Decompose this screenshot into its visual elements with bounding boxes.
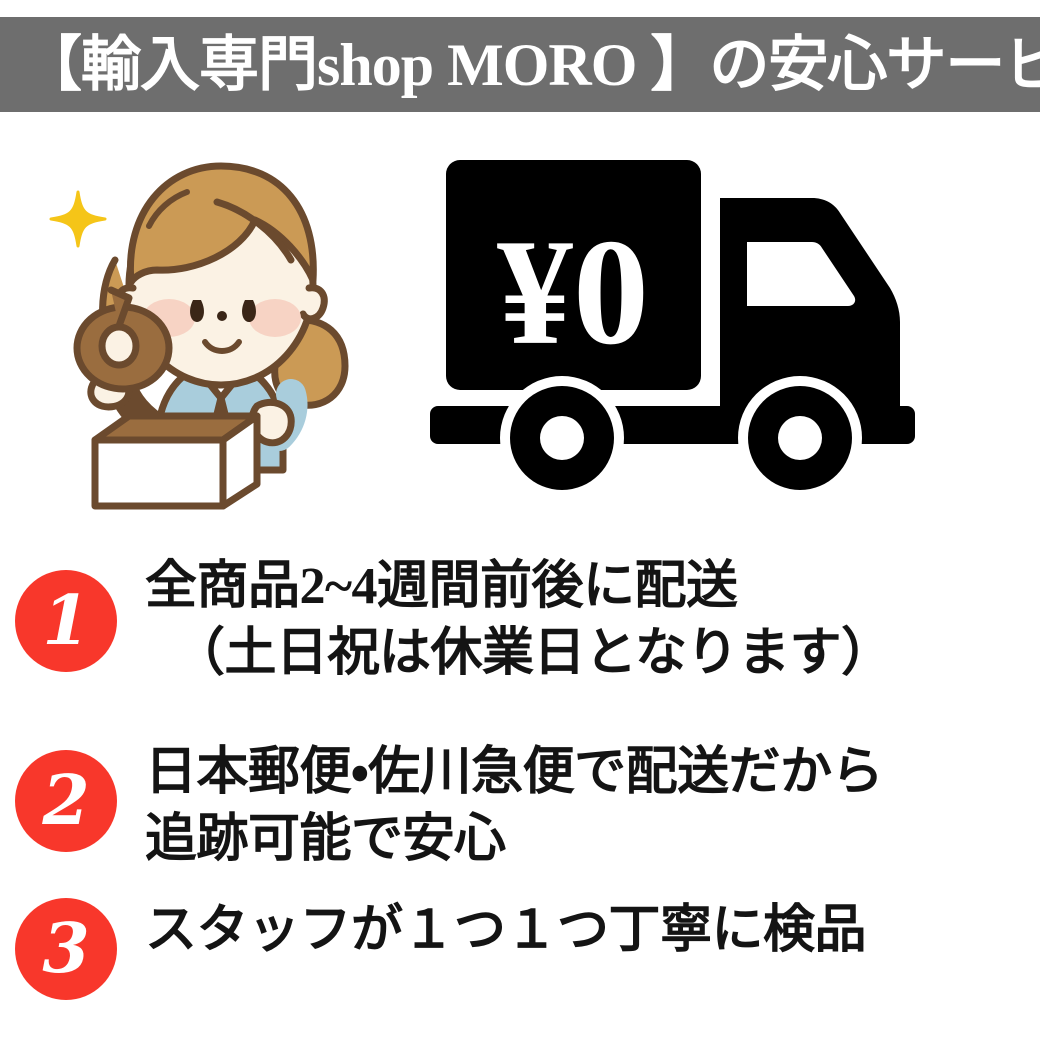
point-line: スタッフが１つ１つ丁寧に検品 — [145, 898, 866, 965]
list-item: 3 スタッフが１つ１つ丁寧に検品 — [0, 892, 1040, 1020]
list-item: 2 日本郵便・佐川急便で配送だから 追跡可能で安心 — [0, 740, 1040, 892]
point-text-2: 日本郵便・佐川急便で配送だから 追跡可能で安心 — [145, 740, 883, 873]
point-text-3: スタッフが１つ１つ丁寧に検品 — [145, 898, 866, 965]
truck-price-label: ¥0 — [497, 208, 649, 376]
point-badge-2: 2 — [15, 750, 117, 852]
service-points-list: 1 全商品2~4週間前後に配送 （土日祝は休業日となります） 2 日本郵便・佐川… — [0, 552, 1040, 1020]
free-shipping-truck-illustration: ¥0 — [420, 148, 980, 503]
list-item: 1 全商品2~4週間前後に配送 （土日祝は休業日となります） — [0, 552, 1040, 740]
point-line: （土日祝は休業日となります） — [145, 621, 892, 688]
sparkle-icon — [51, 192, 105, 246]
point-line: 全商品2~4週間前後に配送 — [145, 554, 892, 621]
point-text-1: 全商品2~4週間前後に配送 （土日祝は休業日となります） — [145, 554, 892, 687]
illustration-area: ¥0 — [0, 120, 1040, 530]
point-badge-3: 3 — [15, 898, 117, 1000]
point-line: 追跡可能で安心 — [145, 807, 883, 874]
staff-woman-illustration — [45, 140, 395, 520]
page-title: 【輸入専門shop MORO 】の安心サービス — [22, 35, 1040, 95]
point-line: 日本郵便・佐川急便で配送だから — [145, 740, 883, 807]
service-info-banner: 【輸入専門shop MORO 】の安心サービス — [0, 0, 1040, 1040]
point-badge-1: 1 — [15, 570, 117, 672]
header-banner: 【輸入専門shop MORO 】の安心サービス — [0, 17, 1040, 112]
